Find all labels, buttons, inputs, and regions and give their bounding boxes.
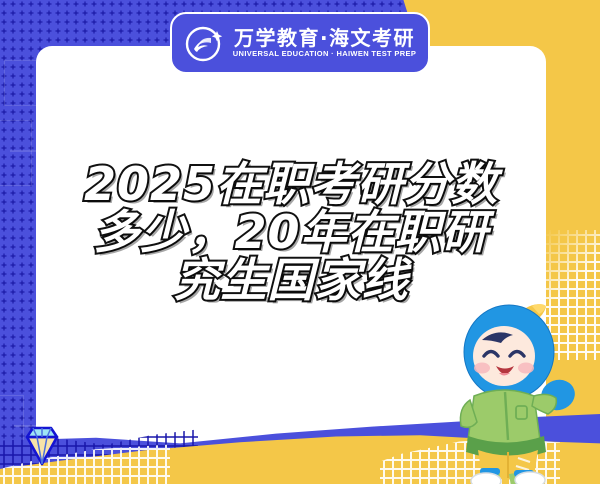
swirl-circle-icon: [184, 23, 224, 63]
line-decoration-mid-left: [0, 120, 32, 186]
child-mascot-illustration: [452, 300, 582, 484]
poster-canvas: 2025在职考研分数 多少，20年在职研 究生国家线: [0, 0, 600, 484]
brand-name-en: UNIVERSAL EDUCATION · HAIWEN TEST PREP: [233, 50, 416, 58]
brand-logo-text: 万学教育·海文考研 UNIVERSAL EDUCATION · HAIWEN T…: [233, 28, 416, 58]
brand-name-cn: 万学教育·海文考研: [234, 28, 415, 48]
diamond-gem-icon: [18, 424, 66, 466]
page-title: 2025在职考研分数 多少，20年在职研 究生国家线: [36, 160, 546, 304]
brand-logo-badge[interactable]: 万学教育·海文考研 UNIVERSAL EDUCATION · HAIWEN T…: [170, 12, 430, 74]
